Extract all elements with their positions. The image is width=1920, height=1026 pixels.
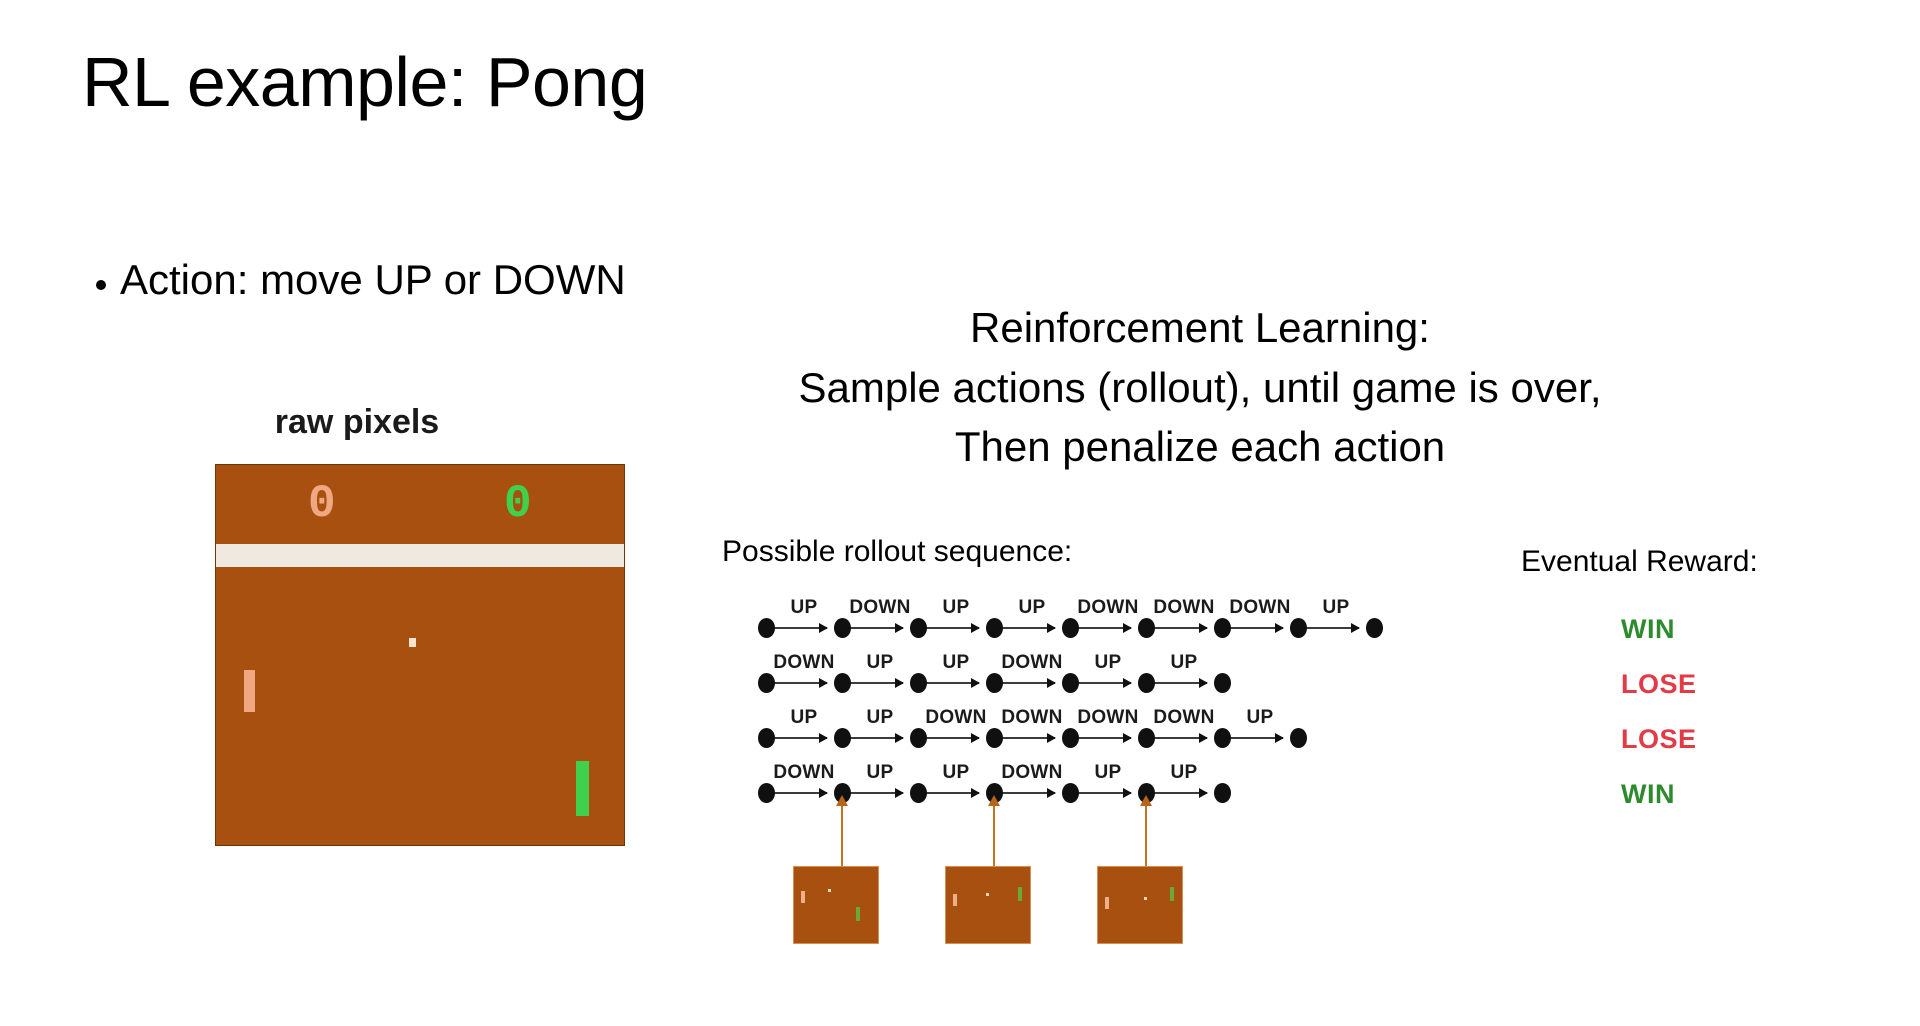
rollout-edge-arrow-icon xyxy=(850,682,903,684)
rollout-edge-arrow-icon xyxy=(1230,737,1283,739)
rollout-diagram: UPDOWNUPUPDOWNDOWNDOWNUPWINDOWNUPUPDOWNU… xyxy=(766,596,1766,856)
page-title: RL example: Pong xyxy=(82,42,647,122)
rollout-action-label: DOWN xyxy=(1077,707,1138,729)
rollout-state-node xyxy=(910,728,927,748)
rollout-state-node xyxy=(1290,618,1307,638)
rollout-state-node xyxy=(910,783,927,803)
rollout-sequence-label: Possible rollout sequence: xyxy=(722,535,1072,569)
thumbnail-pointer-arrow-icon xyxy=(1145,805,1147,867)
rollout-state-node xyxy=(758,673,775,693)
rollout-state-node xyxy=(986,728,1003,748)
pong-ball xyxy=(409,638,416,647)
rollout-action-label: DOWN xyxy=(773,652,834,674)
rollout-edge-arrow-icon xyxy=(1078,682,1131,684)
rollout-state-node xyxy=(1062,783,1079,803)
rollout-edge-arrow-icon xyxy=(1002,737,1055,739)
rollout-state-node xyxy=(1138,728,1155,748)
rollout-state-node xyxy=(910,618,927,638)
rollout-state-node xyxy=(1290,728,1307,748)
rollout-edge-arrow-icon xyxy=(926,792,979,794)
pong-divider-bar xyxy=(216,544,624,567)
thumbnail-pointer-arrow-icon xyxy=(993,805,995,867)
pong-score-left: 0 xyxy=(308,481,336,527)
rl-description-line-3: Then penalize each action xyxy=(530,417,1870,477)
rollout-action-label: UP xyxy=(791,597,818,619)
rollout-action-label: UP xyxy=(1247,707,1274,729)
thumbnail-paddle-left xyxy=(801,891,805,903)
rollout-edge-arrow-icon xyxy=(774,792,827,794)
rollout-action-label: UP xyxy=(943,762,970,784)
rollout-action-label: UP xyxy=(867,707,894,729)
rollout-reward-win: WIN xyxy=(1621,779,1675,810)
rollout-edge-arrow-icon xyxy=(1078,792,1131,794)
thumbnail-paddle-left xyxy=(1105,897,1109,909)
rollout-state-node xyxy=(1062,618,1079,638)
thumbnail-paddle-right xyxy=(1170,887,1174,901)
rollout-action-label: UP xyxy=(943,597,970,619)
rollout-edge-arrow-icon xyxy=(926,737,979,739)
rollout-state-node xyxy=(910,673,927,693)
rollout-state-node xyxy=(1366,618,1383,638)
rl-description-line-2: Sample actions (rollout), until game is … xyxy=(530,358,1870,418)
rollout-action-label: DOWN xyxy=(1153,707,1214,729)
rollout-action-label: UP xyxy=(1171,652,1198,674)
rollout-state-node xyxy=(834,618,851,638)
rollout-edge-arrow-icon xyxy=(774,682,827,684)
rollout-action-label: UP xyxy=(867,762,894,784)
rollout-edge-arrow-icon xyxy=(1154,737,1207,739)
rollout-state-node xyxy=(1214,783,1231,803)
pong-frame-thumbnail xyxy=(794,867,878,943)
rollout-row: UPDOWNUPUPDOWNDOWNDOWNUPWIN xyxy=(766,596,1766,652)
pong-score-right: 0 xyxy=(504,481,532,527)
rollout-edge-arrow-icon xyxy=(1002,792,1055,794)
rollout-action-label: UP xyxy=(943,652,970,674)
rollout-edge-arrow-icon xyxy=(774,627,827,629)
rollout-action-label: DOWN xyxy=(849,597,910,619)
rollout-state-node xyxy=(1062,673,1079,693)
rollout-edge-arrow-icon xyxy=(850,627,903,629)
rollout-state-node xyxy=(1062,728,1079,748)
rl-description: Reinforcement Learning: Sample actions (… xyxy=(530,298,1870,477)
thumbnail-ball xyxy=(1144,897,1147,900)
rollout-action-label: UP xyxy=(1171,762,1198,784)
pong-game-screenshot: 0 0 xyxy=(216,465,624,845)
rollout-state-node xyxy=(758,618,775,638)
rollout-edge-arrow-icon xyxy=(926,627,979,629)
eventual-reward-label: Eventual Reward: xyxy=(1521,545,1758,579)
bullet-action: Action: move UP or DOWN xyxy=(96,258,626,302)
pong-frame-thumbnail xyxy=(946,867,1030,943)
rollout-state-node xyxy=(758,728,775,748)
rollout-action-label: UP xyxy=(1019,597,1046,619)
rollout-edge-arrow-icon xyxy=(1154,792,1207,794)
thumbnail-ball xyxy=(828,889,831,892)
rollout-edge-arrow-icon xyxy=(1002,682,1055,684)
pong-paddle-right xyxy=(576,761,589,816)
rollout-action-label: DOWN xyxy=(1001,762,1062,784)
rollout-edge-arrow-icon xyxy=(1230,627,1283,629)
rollout-row: DOWNUPUPDOWNUPUPWIN xyxy=(766,761,1766,817)
rollout-action-label: UP xyxy=(1095,652,1122,674)
rollout-edge-arrow-icon xyxy=(1078,627,1131,629)
rollout-row: DOWNUPUPDOWNUPUPLOSE xyxy=(766,651,1766,707)
rollout-action-label: DOWN xyxy=(773,762,834,784)
rollout-edge-arrow-icon xyxy=(1154,627,1207,629)
rollout-state-node xyxy=(986,673,1003,693)
rollout-edge-arrow-icon xyxy=(1154,682,1207,684)
rollout-action-label: DOWN xyxy=(1229,597,1290,619)
raw-pixels-caption: raw pixels xyxy=(217,403,497,442)
rl-description-line-1: Reinforcement Learning: xyxy=(530,298,1870,358)
rollout-action-label: DOWN xyxy=(1077,597,1138,619)
rollout-state-node xyxy=(1214,673,1231,693)
rollout-action-label: DOWN xyxy=(1001,652,1062,674)
thumbnail-ball xyxy=(986,893,989,896)
rollout-action-label: UP xyxy=(867,652,894,674)
rollout-state-node xyxy=(834,673,851,693)
rollout-edge-arrow-icon xyxy=(774,737,827,739)
rollout-action-label: UP xyxy=(1323,597,1350,619)
rollout-state-node xyxy=(1214,728,1231,748)
rollout-edge-arrow-icon xyxy=(850,737,903,739)
thumbnail-pointer-arrow-icon xyxy=(841,805,843,867)
rollout-state-node xyxy=(834,728,851,748)
rollout-reward-lose: LOSE xyxy=(1621,724,1697,755)
bullet-dot-icon xyxy=(96,280,106,290)
rollout-reward-win: WIN xyxy=(1621,614,1675,645)
bullet-action-label: Action: move UP or DOWN xyxy=(120,258,626,302)
rollout-action-label: DOWN xyxy=(1001,707,1062,729)
thumbnail-paddle-right xyxy=(856,907,860,921)
rollout-action-label: UP xyxy=(1095,762,1122,784)
rollout-action-label: DOWN xyxy=(1153,597,1214,619)
rollout-state-node xyxy=(758,783,775,803)
rollout-reward-lose: LOSE xyxy=(1621,669,1697,700)
rollout-edge-arrow-icon xyxy=(1002,627,1055,629)
thumbnail-paddle-right xyxy=(1018,887,1022,901)
rollout-action-label: UP xyxy=(791,707,818,729)
rollout-edge-arrow-icon xyxy=(926,682,979,684)
rollout-edge-arrow-icon xyxy=(1306,627,1359,629)
pong-frame-thumbnail xyxy=(1098,867,1182,943)
rollout-state-node xyxy=(1214,618,1231,638)
rollout-state-node xyxy=(986,618,1003,638)
rollout-row: UPUPDOWNDOWNDOWNDOWNUPLOSE xyxy=(766,706,1766,762)
rollout-state-node xyxy=(1138,673,1155,693)
pong-paddle-left xyxy=(244,670,255,712)
rollout-edge-arrow-icon xyxy=(1078,737,1131,739)
rollout-action-label: DOWN xyxy=(925,707,986,729)
rollout-edge-arrow-icon xyxy=(850,792,903,794)
rollout-state-node xyxy=(1138,618,1155,638)
thumbnail-paddle-left xyxy=(953,894,957,906)
